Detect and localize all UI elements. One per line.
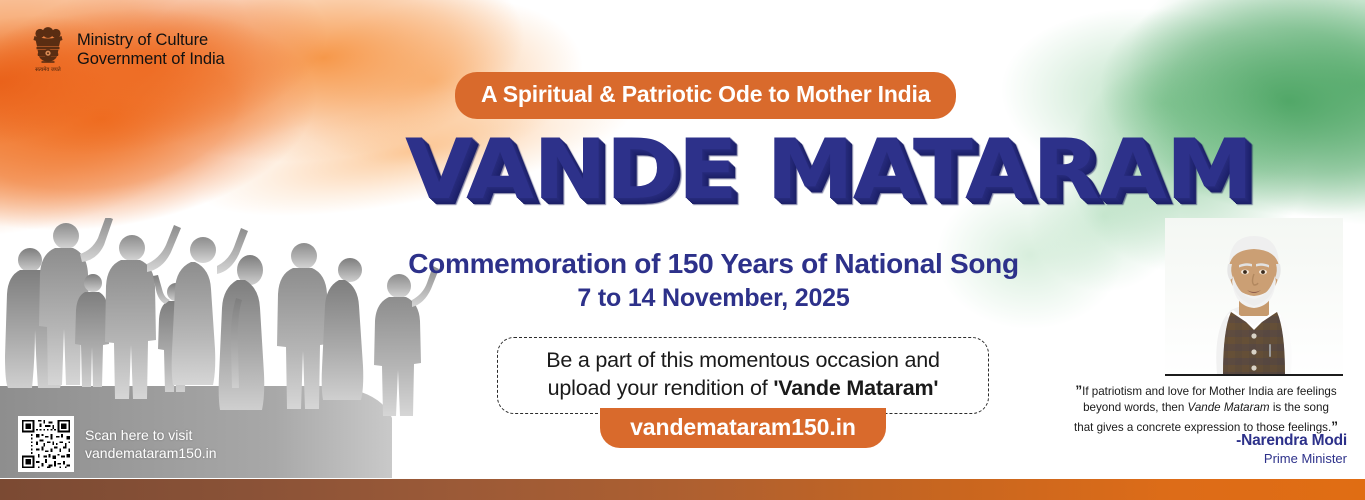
ministry-line-2: Government of India [77, 50, 225, 69]
subtitle: Commemoration of 150 Years of National S… [0, 248, 1365, 280]
quote-divider [1165, 374, 1343, 376]
website-button[interactable]: vandemataram150.in [600, 408, 886, 448]
pm-quote: ”If patriotism and love for Mother India… [1052, 381, 1360, 436]
vande-mataram-banner: सत्यमेव जयते Ministry of Culture Governm… [0, 0, 1365, 500]
qr-caption-line-2: vandemataram150.in [85, 444, 217, 462]
narendra-modi-portrait [1165, 218, 1343, 376]
attribution-role: Prime Minister [1236, 451, 1347, 466]
bottom-accent-bar [0, 479, 1365, 500]
callout-emphasis: 'Vande Mataram' [773, 376, 938, 400]
quote-line-1: If patriotism and love for Mother India … [1082, 385, 1337, 398]
qr-block[interactable]: Scan here to visit vandemataram150.in [18, 416, 217, 472]
page-title: VANDE MATARAM [405, 128, 1252, 211]
quote-line-2-a: beyond words, then [1083, 401, 1187, 414]
emblem-motto: सत्यमेव जयते [35, 66, 62, 73]
ministry-text: Ministry of Culture Government of India [77, 31, 225, 69]
qr-caption-line-1: Scan here to visit [85, 426, 217, 444]
callout-line-2-prefix: upload your rendition of [548, 376, 774, 400]
qr-caption: Scan here to visit vandemataram150.in [85, 426, 217, 462]
attribution-name: -Narendra Modi [1236, 432, 1347, 450]
quote-line-2-b: is the song [1270, 401, 1329, 414]
tagline-badge: A Spiritual & Patriotic Ode to Mother In… [455, 72, 956, 119]
ministry-logo: सत्यमेव जयते Ministry of Culture Governm… [28, 26, 225, 74]
quote-line-2-italic: Vande Mataram [1188, 401, 1270, 414]
ministry-line-1: Ministry of Culture [77, 31, 225, 50]
callout-line-1: Be a part of this momentous occasion and [546, 348, 940, 372]
quote-attribution: -Narendra Modi Prime Minister [1236, 432, 1347, 466]
ashoka-lion-capital-emblem: सत्यमेव जयते [28, 26, 68, 74]
qr-code-icon[interactable] [18, 416, 74, 472]
event-dates: 7 to 14 November, 2025 [0, 284, 1365, 313]
callout-box: Be a part of this momentous occasion and… [497, 337, 989, 414]
